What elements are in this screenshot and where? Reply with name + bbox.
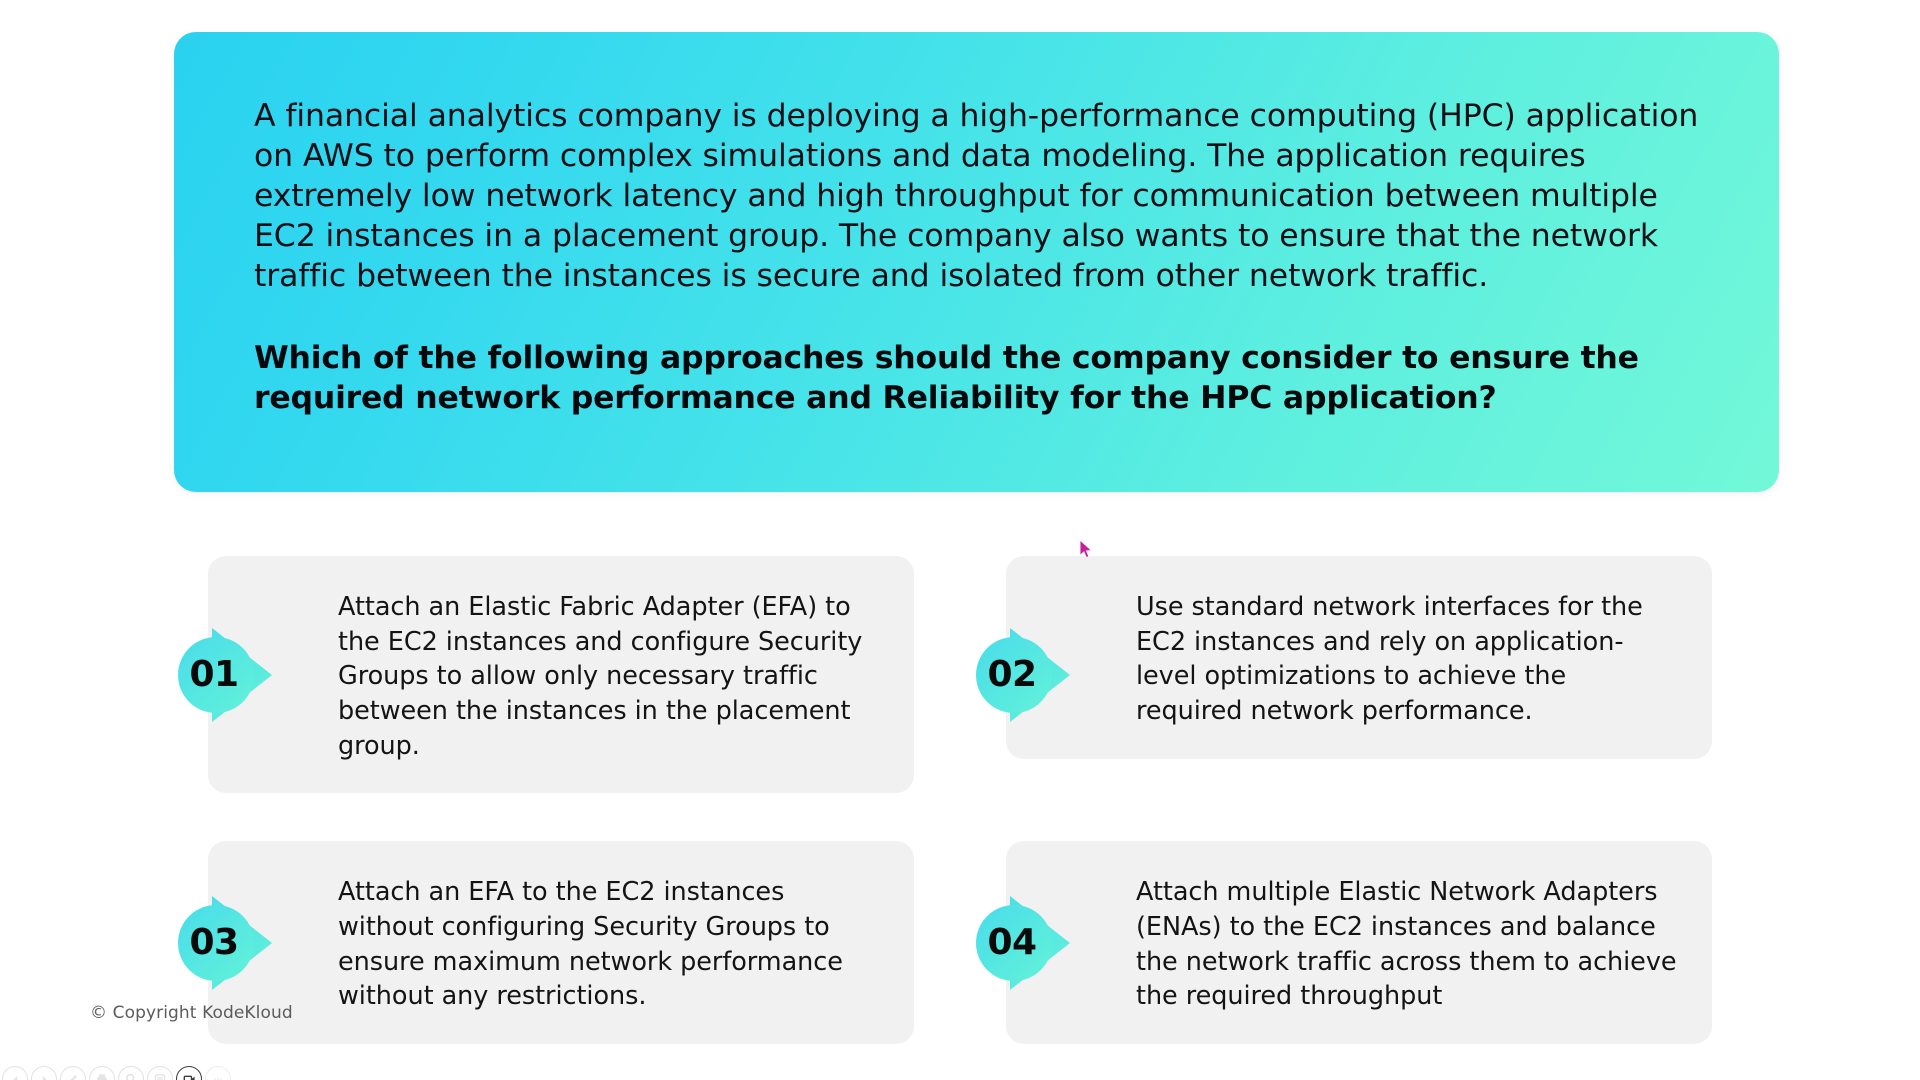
option-label: Attach multiple Elastic Network Adapters… bbox=[1136, 875, 1678, 1014]
options-grid: Attach an Elastic Fabric Adapter (EFA) t… bbox=[0, 556, 1920, 1044]
pen-icon[interactable] bbox=[60, 1066, 86, 1080]
option-card[interactable]: Attach an Elastic Fabric Adapter (EFA) t… bbox=[208, 556, 914, 793]
printer-icon[interactable] bbox=[89, 1066, 115, 1080]
arrow-badge-icon: 01 bbox=[170, 620, 286, 730]
option-number: 04 bbox=[968, 888, 1056, 998]
magnifier-icon[interactable] bbox=[118, 1066, 144, 1080]
previous-icon[interactable] bbox=[2, 1066, 28, 1080]
option-card[interactable]: Attach multiple Elastic Network Adapters… bbox=[1006, 841, 1712, 1044]
option-01[interactable]: Attach an Elastic Fabric Adapter (EFA) t… bbox=[208, 556, 914, 793]
option-card[interactable]: Attach an EFA to the EC2 instances witho… bbox=[208, 841, 914, 1044]
option-card[interactable]: Use standard network interfaces for the … bbox=[1006, 556, 1712, 759]
question-prompt-text: Which of the following approaches should… bbox=[254, 338, 1654, 419]
option-03[interactable]: Attach an EFA to the EC2 instances witho… bbox=[208, 841, 914, 1044]
option-04[interactable]: Attach multiple Elastic Network Adapters… bbox=[1006, 841, 1712, 1044]
arrow-badge-icon: 04 bbox=[968, 888, 1084, 998]
option-number: 01 bbox=[170, 620, 258, 730]
play-next-icon[interactable] bbox=[31, 1066, 57, 1080]
option-label: Use standard network interfaces for the … bbox=[1136, 590, 1678, 729]
option-02[interactable]: Use standard network interfaces for the … bbox=[1006, 556, 1712, 793]
list-icon[interactable] bbox=[147, 1066, 173, 1080]
slide-canvas: A financial analytics company is deployi… bbox=[0, 0, 1920, 1080]
option-label: Attach an EFA to the EC2 instances witho… bbox=[338, 875, 880, 1014]
question-banner: A financial analytics company is deployi… bbox=[174, 32, 1779, 492]
option-number: 03 bbox=[170, 888, 258, 998]
arrow-badge-icon: 02 bbox=[968, 620, 1084, 730]
question-body-text: A financial analytics company is deployi… bbox=[254, 96, 1719, 296]
more-options-icon[interactable] bbox=[205, 1066, 231, 1080]
presentation-toolbar bbox=[2, 1064, 231, 1080]
arrow-badge-icon: 03 bbox=[170, 888, 286, 998]
copyright-text: © Copyright KodeKloud bbox=[90, 1003, 293, 1023]
video-camera-icon[interactable] bbox=[176, 1066, 202, 1080]
option-number: 02 bbox=[968, 620, 1056, 730]
option-label: Attach an Elastic Fabric Adapter (EFA) t… bbox=[338, 590, 880, 763]
